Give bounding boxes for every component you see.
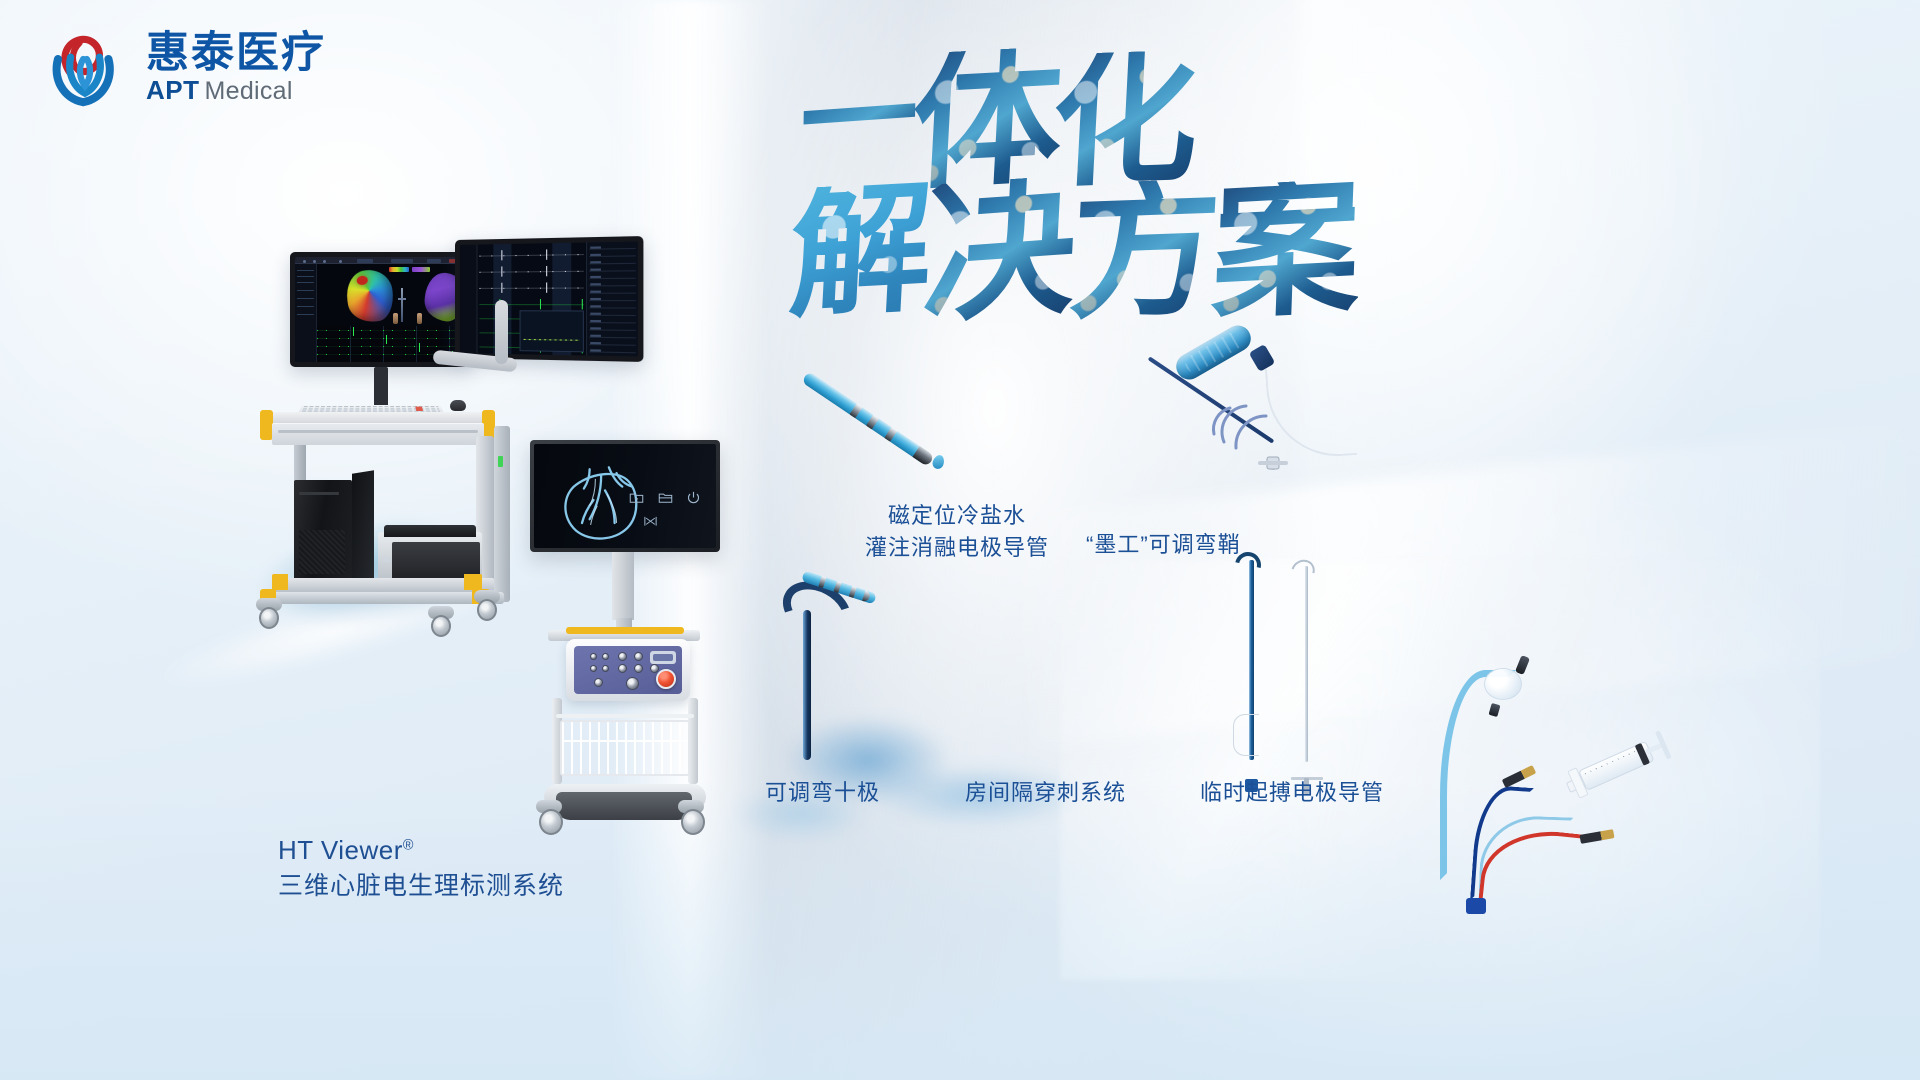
recording-channel-list (586, 241, 638, 356)
mapping-3d-view (317, 264, 467, 326)
display-stand-neck (612, 552, 634, 620)
dilator-distal-curve (1287, 555, 1319, 586)
hemostasis-valve (1258, 456, 1288, 470)
caption-ht-viewer: HT Viewer® 三维心脏电生理标测系统 (278, 832, 564, 904)
caption-ht-viewer-cn: 三维心脏电生理标测系统 (278, 869, 564, 905)
open-case-icon[interactable] (656, 490, 673, 510)
curve-indicator-arcs (1206, 394, 1278, 456)
color-scale-activation (389, 267, 409, 272)
catheter-shaft (801, 371, 933, 466)
product-irrigated-ablation-catheter (805, 358, 975, 488)
headline-char-fang: 方 (1066, 178, 1223, 326)
mouse[interactable] (450, 400, 466, 411)
product-transseptal-puncture-system (1205, 560, 1335, 790)
cart-base-bar (260, 592, 504, 604)
pc-tower (294, 480, 352, 582)
recording-sidebar (460, 245, 478, 354)
sheath-tube (1265, 363, 1357, 461)
headline-char-jue: 决 (920, 174, 1079, 330)
catheter-overlay (401, 288, 403, 322)
headline-line-2: 解 决 方 案 (790, 180, 1360, 324)
connector-port[interactable] (590, 653, 597, 660)
headline-char-jie: 解 (787, 181, 936, 324)
ground-port[interactable] (594, 678, 603, 687)
brand-logo: 惠泰医疗 APT Medical (40, 22, 326, 114)
apt-medical-ribbon-logo-icon (40, 22, 130, 114)
power-icon[interactable] (685, 490, 702, 510)
display-icon-row (628, 490, 702, 534)
headline-char-yi: 一 (799, 61, 919, 182)
storage-basket (560, 720, 690, 776)
pacing-catheter-hub (1466, 898, 1486, 914)
cart-column-outer (494, 426, 510, 602)
caption-ht-viewer-en: HT Viewer® (278, 832, 564, 869)
brand-name-cn: 惠泰医疗 (146, 32, 326, 75)
connector-port[interactable] (602, 665, 609, 672)
product-steerable-sheath (1150, 352, 1400, 512)
saline-droplet (931, 454, 946, 471)
caption-irrigation-line2: 灌注消融电极导管 (865, 532, 1049, 564)
trademark-symbol: ® (403, 837, 414, 853)
flotation-balloon (1484, 668, 1522, 700)
cart-base-cover (556, 792, 692, 820)
mapping-monitor (290, 252, 472, 367)
recording-monitor-screen (460, 241, 638, 356)
brand-name-apt: APT (146, 77, 200, 103)
connector-port[interactable] (634, 664, 643, 673)
mobile-display-cart (530, 440, 730, 860)
control-shelf-accent (566, 627, 684, 634)
body-marker-right (417, 313, 422, 324)
emergency-stop-button[interactable] (656, 669, 676, 689)
needle-side-port (1233, 714, 1259, 756)
registration-icon[interactable] (641, 514, 659, 534)
basket-rail (556, 714, 694, 718)
connector-port[interactable] (634, 652, 643, 661)
connector-port[interactable] (602, 653, 609, 660)
product-temporary-pacing-catheter (1430, 660, 1720, 910)
mapping-monitor-screen (295, 257, 467, 362)
inflation-syringe (1555, 727, 1674, 809)
pc-tower-side (352, 470, 374, 581)
caption-transseptal-system: 房间隔穿刺系统 (965, 775, 1126, 807)
mapping-sidebar (295, 264, 317, 362)
heart-display-screen (534, 444, 716, 548)
control-module (566, 639, 690, 701)
connector-port[interactable] (590, 665, 597, 672)
monitor-arm-vertical (495, 300, 508, 364)
cart-shelf (272, 578, 494, 592)
heart-display-monitor (530, 440, 720, 552)
caption-pacing-catheter: 临时起搏电极导管 (1200, 775, 1384, 807)
poster-canvas: 惠泰医疗 APT Medical 一 体 化 解 决 方 案 (0, 0, 1920, 1080)
caption-decapolar-catheter: 可调弯十极 (765, 775, 880, 807)
control-module-panel (574, 646, 682, 694)
caption-irrigation-line1: 磁定位冷盐水 (865, 500, 1049, 532)
headline-calligraphy: 一 体 化 解 决 方 案 (790, 30, 1350, 350)
cart-shelf-corner-right (464, 574, 482, 590)
color-scale-voltage (412, 267, 430, 272)
brand-name-en: APT Medical (146, 77, 326, 104)
caption-steerable-sheath: “墨工”可调弯鞘 (1086, 527, 1241, 559)
connector-port[interactable] (618, 652, 627, 661)
recording-monitor (455, 236, 643, 362)
power-led-indicator (498, 456, 503, 467)
heart-map-activation (344, 267, 397, 325)
mapping-toolbar (295, 257, 467, 264)
caption-irrigated-ablation-catheter: 磁定位冷盐水 灌注消融电极导管 (865, 500, 1049, 564)
recording-detail-panel (520, 310, 584, 352)
cart-drawer[interactable] (272, 423, 484, 445)
connector-pin-red (1579, 829, 1614, 844)
product-steerable-decapolar-catheter (775, 580, 885, 780)
cart-shelf-corner-left (272, 574, 288, 590)
status-display (650, 651, 676, 664)
headline-char-an: 案 (1210, 178, 1363, 327)
brand-wordmark: 惠泰医疗 APT Medical (146, 32, 326, 104)
new-case-icon[interactable] (628, 490, 645, 510)
connector-port[interactable] (618, 664, 627, 673)
brand-name-medical: Medical (205, 79, 293, 104)
caption-ht-viewer-name: HT Viewer (278, 835, 403, 865)
body-marker-left (393, 313, 398, 324)
dilator-shaft (1305, 566, 1308, 762)
main-connector-port[interactable] (626, 677, 639, 690)
